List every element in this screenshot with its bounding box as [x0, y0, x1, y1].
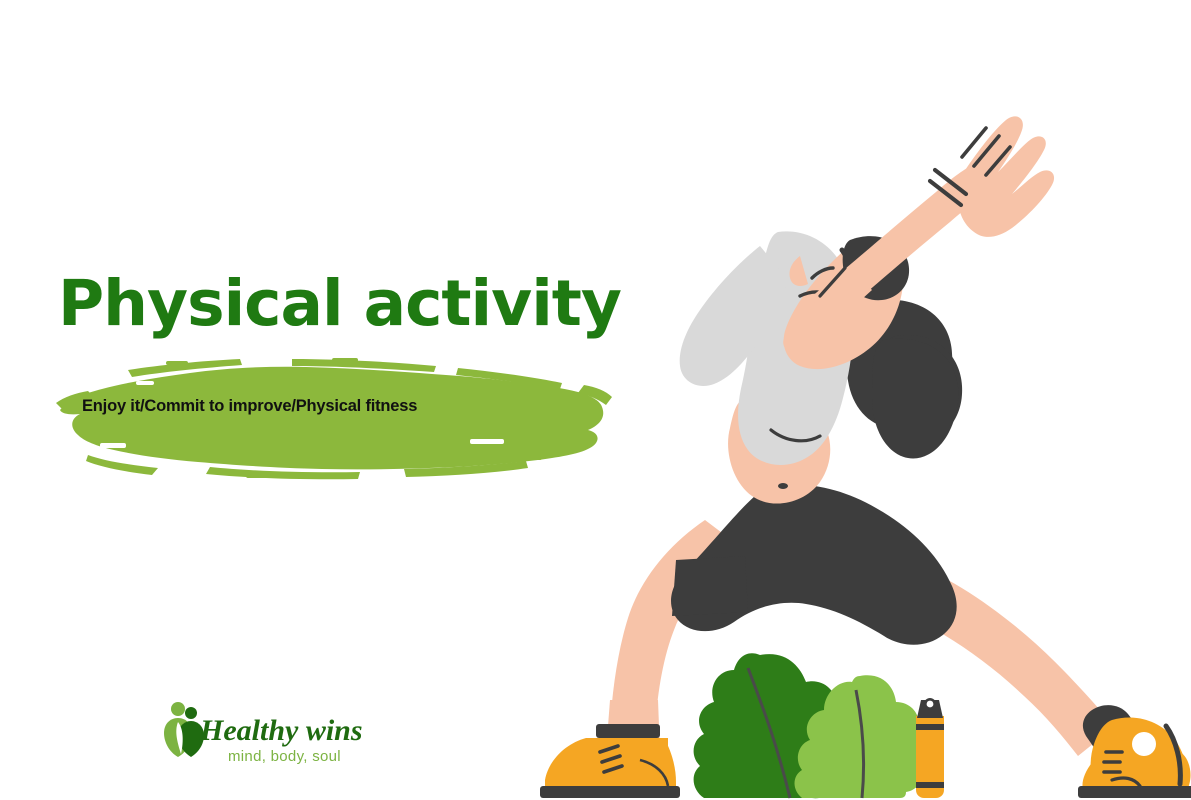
back-leg [606, 520, 742, 752]
page-title: Physical activity [58, 272, 621, 335]
shorts [671, 484, 957, 644]
front-leg-shoe [1078, 705, 1191, 798]
leaf-dark [694, 653, 852, 798]
torso-skin [728, 396, 830, 503]
front-leg [884, 560, 1114, 756]
leaf-light [795, 675, 928, 798]
brush-stroke-shape [40, 355, 620, 480]
logo-wordmark: Healthy wins [200, 714, 363, 748]
tagline-brush-banner: Enjoy it/Commit to improve/Physical fitn… [40, 355, 620, 480]
tagline-text: Enjoy it/Commit to improve/Physical fitn… [82, 397, 417, 416]
back-leg-shoe [540, 724, 680, 798]
raised-arm-hand [794, 116, 1054, 333]
head-face [784, 236, 909, 369]
brand-logo[interactable]: Healthy wins mind, body, soul [158, 700, 368, 780]
forearm-across-face [783, 268, 872, 357]
banner-root: Physical activity Enjoy it/Commit to imp… [0, 0, 1191, 800]
water-bottle [916, 698, 944, 798]
crop-top [680, 231, 854, 465]
head-with-ponytail [847, 300, 962, 459]
logo-tagline: mind, body, soul [228, 748, 341, 765]
